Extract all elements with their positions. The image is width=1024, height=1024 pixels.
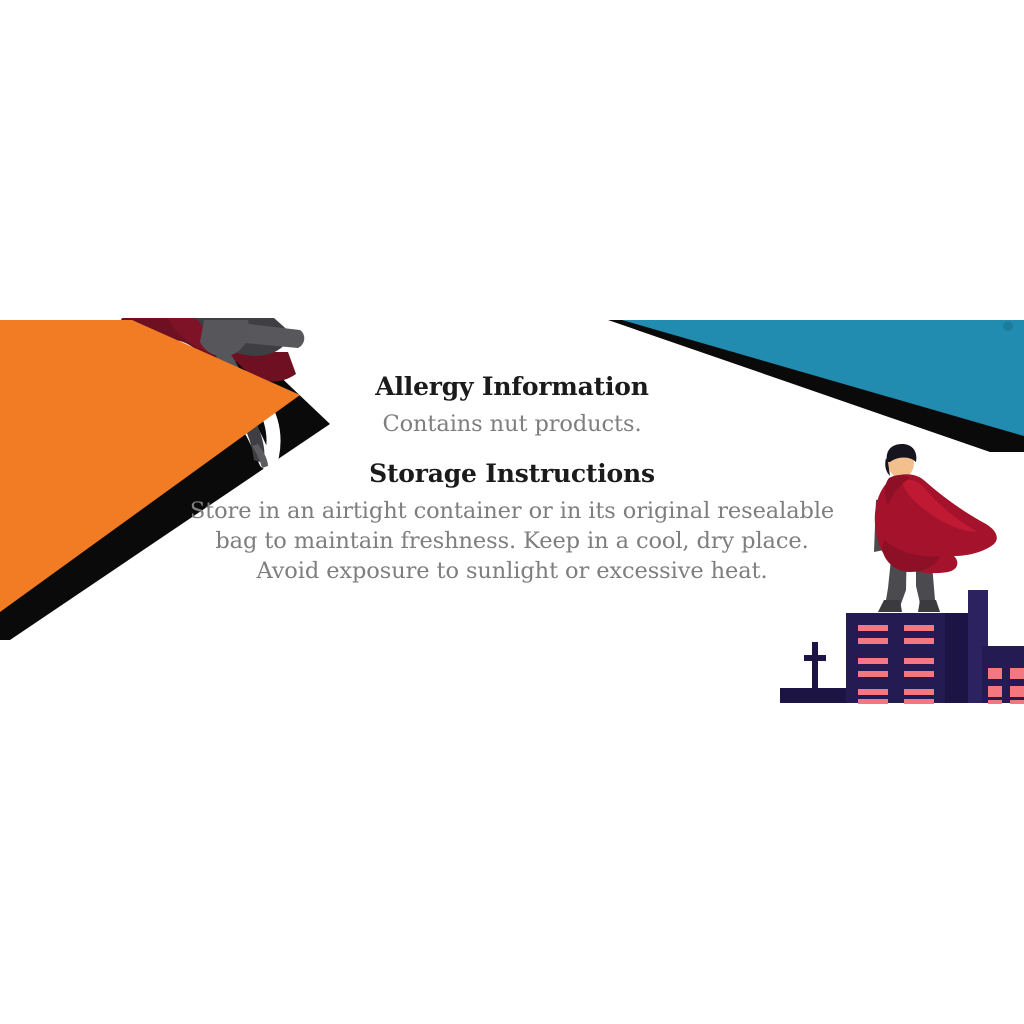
allergy-body: Contains nut products. [0, 409, 1024, 439]
flying-hero-arm [232, 322, 304, 348]
section-storage: Storage Instructions Store in an airtigh… [0, 459, 1024, 586]
city-ledge [780, 688, 876, 703]
storage-body-line-3: Avoid exposure to sunlight or excessive … [0, 556, 1024, 586]
standing-hero-boot-left [878, 600, 902, 612]
city-antenna-crossbar-icon [804, 655, 826, 661]
flying-hero-torso [196, 318, 292, 356]
flying-hero-cape [115, 318, 268, 372]
flying-hero-cape-highlight [168, 318, 240, 355]
accent-dot-icon [1003, 321, 1013, 331]
banner-canvas: Allergy Information Contains nut product… [0, 0, 1024, 1024]
text-block: Allergy Information Contains nut product… [0, 372, 1024, 586]
city-building-tower [968, 590, 988, 703]
city-building-right [982, 646, 1024, 703]
flying-hero-shoulder [200, 320, 249, 356]
city-antenna-mast-icon [812, 642, 818, 690]
city-windows-main-right [904, 625, 934, 704]
storage-body: Store in an airtight container or in its… [0, 496, 1024, 586]
city-building-main [846, 613, 968, 703]
storage-body-line-2: bag to maintain freshness. Keep in a coo… [0, 526, 1024, 556]
section-allergy: Allergy Information Contains nut product… [0, 372, 1024, 439]
city-windows-right-block [988, 668, 1024, 704]
standing-hero-boot-right [918, 600, 940, 612]
allergy-heading: Allergy Information [0, 372, 1024, 402]
city-windows-main-left [858, 625, 888, 704]
city-building-main-wing [945, 613, 979, 703]
storage-body-line-1: Store in an airtight container or in its… [0, 496, 1024, 526]
allergy-body-line-1: Contains nut products. [0, 409, 1024, 439]
storage-heading: Storage Instructions [0, 459, 1024, 489]
